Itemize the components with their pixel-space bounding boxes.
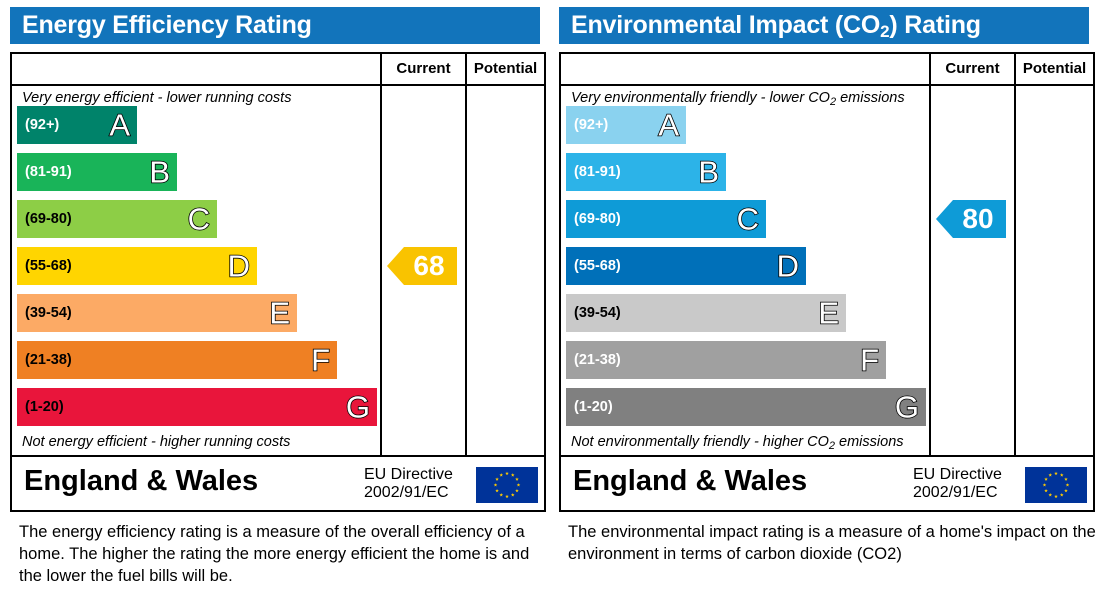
rating-band-G: (1-20)G bbox=[17, 388, 377, 426]
band-letter-G: G bbox=[895, 392, 919, 423]
band-letter-G: G bbox=[346, 392, 370, 423]
band-range-label: (39-54) bbox=[574, 294, 621, 332]
band-range-label: (55-68) bbox=[574, 247, 621, 285]
band-range-label: (1-20) bbox=[574, 388, 613, 426]
column-header-current: Current bbox=[931, 54, 1014, 84]
environmental-impact-bars: (92+)A(81-91)B(69-80)C(55-68)D(39-54)E(2… bbox=[561, 54, 929, 455]
environmental-impact-title-post: ) Rating bbox=[889, 11, 980, 39]
current-column-divider bbox=[929, 54, 931, 457]
band-letter-B: B bbox=[698, 157, 719, 188]
eu-flag-icon bbox=[1025, 467, 1087, 503]
eu-directive-line1: EU Directive bbox=[364, 466, 453, 484]
rating-band-B: (81-91)B bbox=[566, 153, 726, 191]
energy-efficiency-title: Energy Efficiency Rating bbox=[10, 7, 540, 44]
band-range-label: (81-91) bbox=[574, 153, 621, 191]
band-letter-F: F bbox=[860, 345, 879, 376]
eu-flag-stars-icon bbox=[1025, 467, 1087, 503]
band-range-label: (81-91) bbox=[25, 153, 72, 191]
band-letter-C: C bbox=[737, 204, 759, 235]
rating-band-C: (69-80)C bbox=[566, 200, 766, 238]
rating-band-D: (55-68)D bbox=[17, 247, 257, 285]
band-letter-D: D bbox=[228, 251, 250, 282]
epc-rating-graphs: Energy Efficiency Rating Current Potenti… bbox=[0, 0, 1098, 613]
environmental-impact-panel: Environmental Impact (CO2) Rating Curren… bbox=[552, 0, 1096, 613]
column-header-current: Current bbox=[382, 54, 465, 84]
energy-efficiency-panel: Energy Efficiency Rating Current Potenti… bbox=[3, 0, 547, 613]
band-range-label: (1-20) bbox=[25, 388, 64, 426]
potential-column-divider bbox=[465, 54, 467, 457]
band-range-label: (21-38) bbox=[25, 341, 72, 379]
band-range-label: (69-80) bbox=[574, 200, 621, 238]
band-range-label: (92+) bbox=[25, 106, 59, 144]
eu-directive-label: EU Directive 2002/91/EC bbox=[364, 466, 453, 502]
environmental-impact-title-pre: Environmental Impact (CO bbox=[571, 11, 880, 39]
region-label: England & Wales bbox=[24, 465, 258, 498]
column-header-potential: Potential bbox=[1016, 54, 1093, 84]
rating-band-E: (39-54)E bbox=[17, 294, 297, 332]
potential-column-divider bbox=[1014, 54, 1016, 457]
current-rating-arrow-80: 80 bbox=[936, 200, 1006, 238]
band-letter-E: E bbox=[269, 298, 290, 329]
band-letter-E: E bbox=[818, 298, 839, 329]
region-label: England & Wales bbox=[573, 465, 807, 498]
eu-directive-line2: 2002/91/EC bbox=[364, 484, 453, 502]
environmental-impact-footer: England & Wales EU Directive 2002/91/EC bbox=[561, 457, 1093, 512]
energy-efficiency-description: The energy efficiency rating is a measur… bbox=[19, 521, 547, 587]
column-header-potential: Potential bbox=[467, 54, 544, 84]
energy-efficiency-title-text: Energy Efficiency Rating bbox=[22, 11, 312, 39]
rating-band-F: (21-38)F bbox=[566, 341, 886, 379]
band-range-label: (55-68) bbox=[25, 247, 72, 285]
current-column-divider bbox=[380, 54, 382, 457]
eu-flag-stars-icon bbox=[476, 467, 538, 503]
energy-efficiency-table: Current Potential Very energy efficient … bbox=[10, 52, 546, 512]
band-range-label: (21-38) bbox=[574, 341, 621, 379]
band-letter-A: A bbox=[658, 110, 679, 141]
environmental-impact-table: Current Potential Very environmentally f… bbox=[559, 52, 1095, 512]
rating-band-D: (55-68)D bbox=[566, 247, 806, 285]
energy-efficiency-bars: (92+)A(81-91)B(69-80)C(55-68)D(39-54)E(2… bbox=[12, 54, 380, 455]
band-range-label: (92+) bbox=[574, 106, 608, 144]
rating-band-E: (39-54)E bbox=[566, 294, 846, 332]
band-letter-C: C bbox=[188, 204, 210, 235]
rating-band-A: (92+)A bbox=[17, 106, 137, 144]
rating-band-F: (21-38)F bbox=[17, 341, 337, 379]
eu-directive-line2: 2002/91/EC bbox=[913, 484, 1002, 502]
band-letter-A: A bbox=[109, 110, 130, 141]
energy-efficiency-footer: England & Wales EU Directive 2002/91/EC bbox=[12, 457, 544, 512]
rating-band-B: (81-91)B bbox=[17, 153, 177, 191]
eu-directive-label: EU Directive 2002/91/EC bbox=[913, 466, 1002, 502]
band-letter-B: B bbox=[149, 157, 170, 188]
band-letter-F: F bbox=[311, 345, 330, 376]
rating-band-C: (69-80)C bbox=[17, 200, 217, 238]
environmental-impact-description: The environmental impact rating is a mea… bbox=[568, 521, 1096, 565]
environmental-impact-title: Environmental Impact (CO2) Rating bbox=[559, 7, 1089, 44]
band-range-label: (69-80) bbox=[25, 200, 72, 238]
band-letter-D: D bbox=[777, 251, 799, 282]
current-rating-arrow-68: 68 bbox=[387, 247, 457, 285]
eu-flag-icon bbox=[476, 467, 538, 503]
band-range-label: (39-54) bbox=[25, 294, 72, 332]
environmental-impact-title-sub: 2 bbox=[880, 22, 889, 41]
rating-band-G: (1-20)G bbox=[566, 388, 926, 426]
rating-band-A: (92+)A bbox=[566, 106, 686, 144]
eu-directive-line1: EU Directive bbox=[913, 466, 1002, 484]
